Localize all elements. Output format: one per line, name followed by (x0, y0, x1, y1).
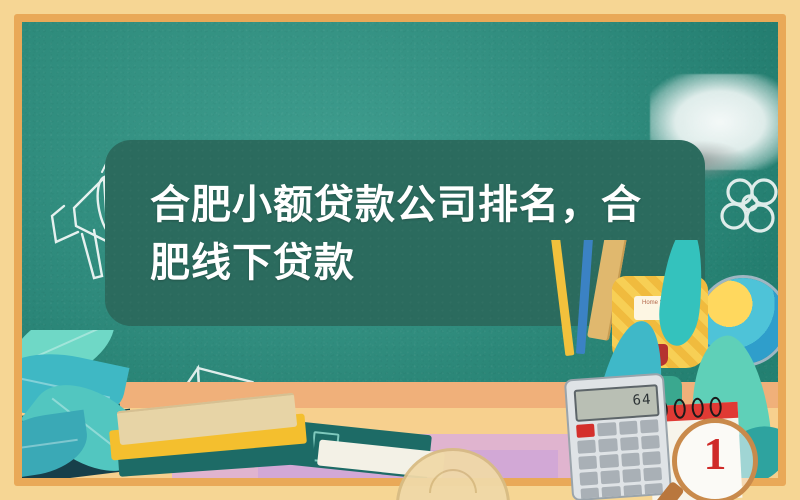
magnified-number: 1 (677, 427, 753, 480)
yellow-pencil (551, 240, 575, 356)
magnifier: 1 (672, 418, 758, 500)
flower-doodle (712, 170, 778, 250)
calculator: 64 (564, 373, 672, 500)
calculator-screen: 64 (574, 384, 660, 422)
calculator-keypad (576, 419, 663, 500)
calculator-display-value: 64 (632, 392, 652, 409)
poster-canvas: 合肥小额贷款公司排名，合肥线下贷款 Home School (0, 0, 800, 500)
